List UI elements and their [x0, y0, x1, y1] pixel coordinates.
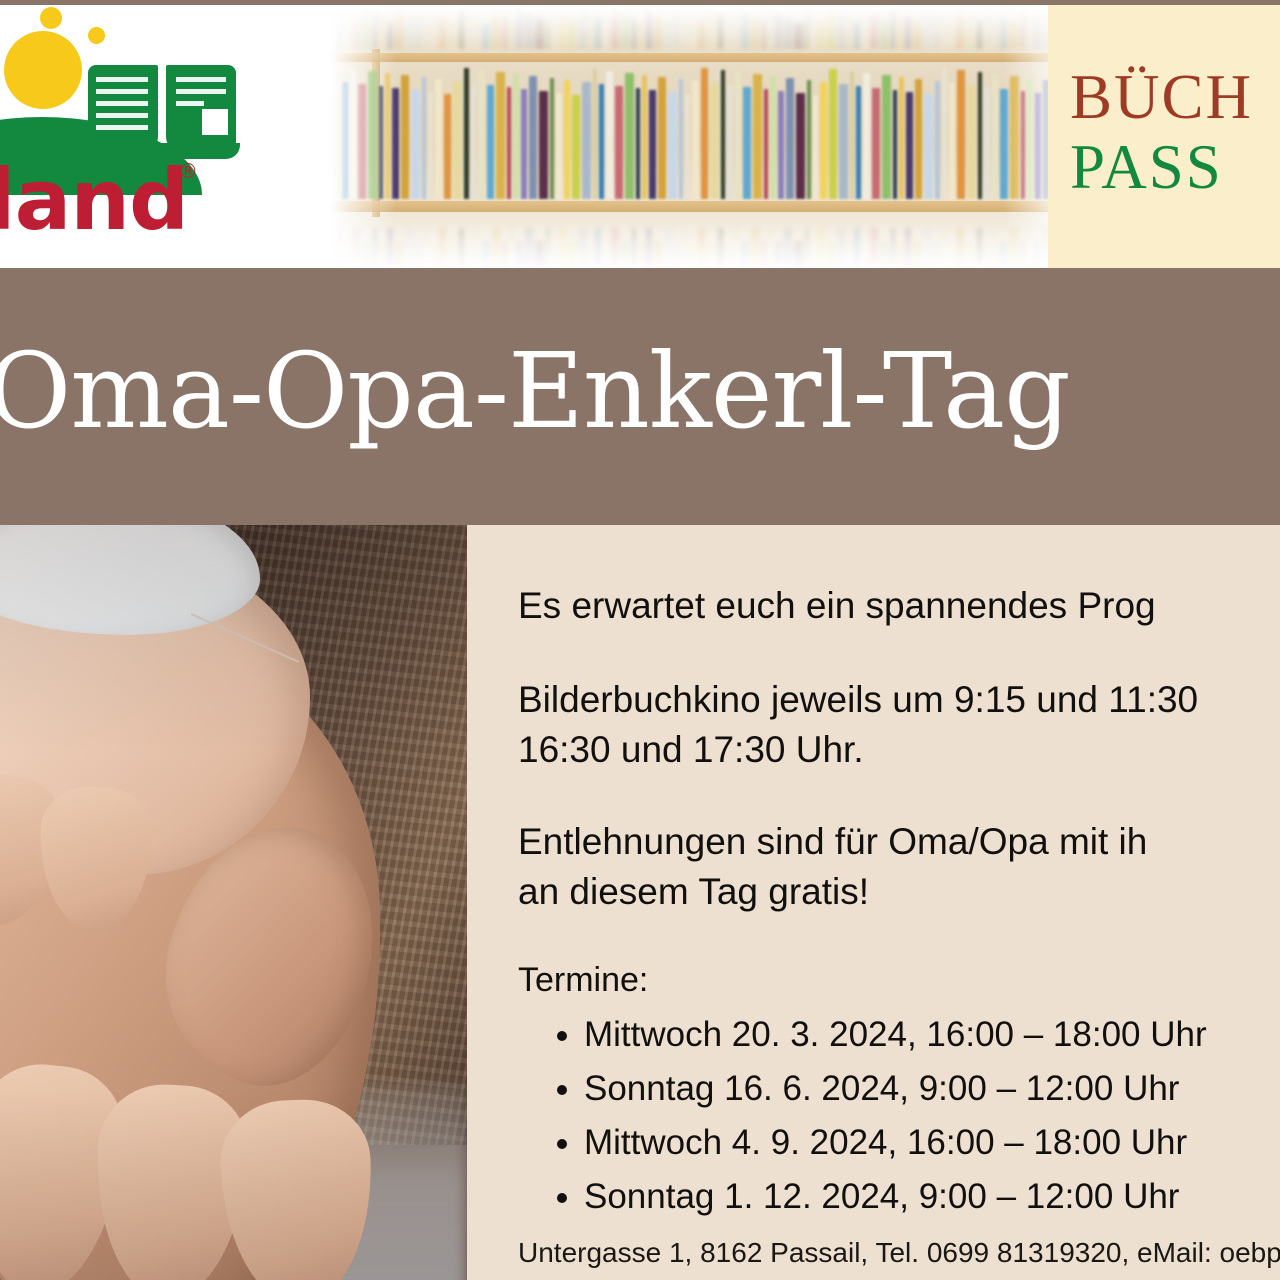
bookshelf-photo	[330, 5, 1070, 268]
sun-icon	[4, 31, 82, 109]
gratis-paragraph: Entlehnungen sind für Oma/Opa mit ih an …	[518, 817, 1280, 917]
footer-address: Untergasse 1, 8162 Passail, Tel. 0699 81…	[518, 1237, 1280, 1269]
registered-mark-icon: ®	[178, 159, 198, 183]
title-banner: Oma-Opa-Enkerl-Tag	[0, 268, 1280, 525]
open-book-icon	[88, 65, 236, 161]
termine-label: Termine:	[518, 955, 1280, 1005]
content-panel: Es erwartet euch ein spannendes Prog Bil…	[467, 525, 1280, 1280]
hands-photo	[0, 525, 467, 1280]
event-flyer: enland ® BÜCH PASS Oma-Opa-Enkerl-Tag Es…	[0, 0, 1280, 1280]
bilderbuchkino-paragraph: Bilderbuchkino jeweils um 9:15 und 11:30…	[518, 675, 1280, 775]
logo-line-buecherei: BÜCH	[1070, 61, 1253, 134]
logo-line-passail: PASS	[1070, 131, 1223, 204]
date-list-item: Sonntag 1. 12. 2024, 9:00 – 12:00 Uhr	[584, 1170, 1280, 1224]
intro-paragraph: Es erwartet euch ein spannendes Prog	[518, 581, 1280, 631]
buecherei-passail-logo: BÜCH PASS	[1048, 5, 1280, 268]
date-list-item: Mittwoch 20. 3. 2024, 16:00 – 18:00 Uhr	[584, 1008, 1280, 1062]
dates-list: Mittwoch 20. 3. 2024, 16:00 – 18:00 UhrS…	[548, 1008, 1280, 1224]
logo-wordmark: enland	[0, 151, 188, 249]
header-strip: enland ® BÜCH PASS	[0, 0, 1280, 268]
date-list-item: Mittwoch 4. 9. 2024, 16:00 – 18:00 Uhr	[584, 1116, 1280, 1170]
date-list-item: Sonntag 16. 6. 2024, 9:00 – 12:00 Uhr	[584, 1062, 1280, 1116]
page-title: Oma-Opa-Enkerl-Tag	[0, 316, 1280, 466]
apfelland-logo: enland ®	[0, 13, 312, 263]
